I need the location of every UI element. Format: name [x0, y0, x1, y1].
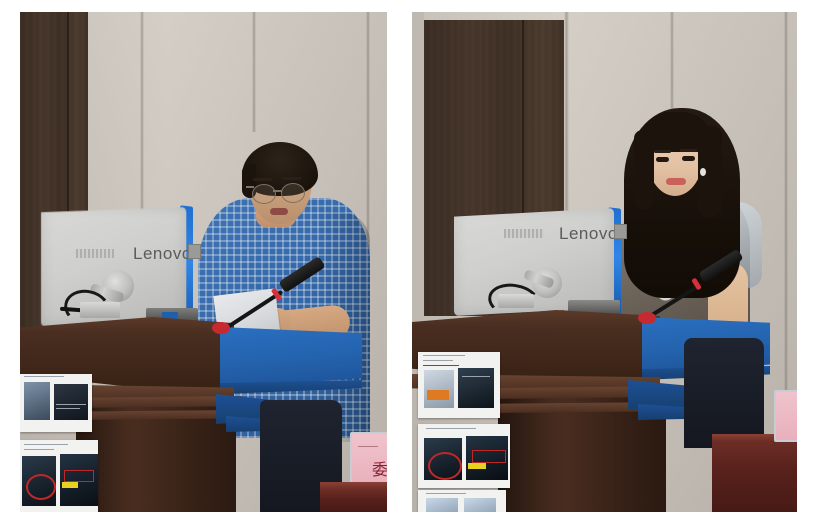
poster-text-line [24, 376, 64, 377]
wall-strip-right [412, 12, 424, 322]
photo-right: Lenovo [412, 12, 797, 512]
photo-left: Lenovo [20, 12, 387, 512]
poster-right-2 [418, 424, 510, 488]
monitor-lenovo-logo-right: Lenovo [559, 224, 618, 244]
desk-device-left [80, 302, 120, 318]
nameplate-line [358, 446, 378, 447]
poster-text-line [462, 376, 490, 377]
glasses-lens-left [252, 184, 276, 204]
poster-thumb [424, 370, 454, 408]
poster-thumb [458, 368, 494, 408]
monitor-vent-left [76, 249, 114, 258]
wall-seam-2 [252, 12, 256, 132]
screenshot-canvas: Lenovo [0, 0, 816, 527]
poster-annotation-circle [428, 452, 462, 480]
table-body-right-photo [712, 442, 797, 512]
poster-thumb [426, 498, 458, 512]
poster-annotation-box [64, 470, 94, 482]
poster-thumb [464, 498, 496, 512]
poster-text-line [56, 404, 86, 405]
poster-text-line [426, 428, 476, 429]
monitor-lenovo-mark-right [614, 224, 627, 239]
nameplate-text: 委 [372, 456, 387, 480]
monitor-vent-right [504, 229, 544, 238]
glasses-bridge [273, 190, 282, 192]
monitor-lenovo-mark-left [188, 244, 201, 259]
microphone-base-left [212, 322, 230, 334]
poster-highlight [468, 463, 486, 469]
poster-text-line [426, 493, 466, 494]
poster-annotation-box [472, 450, 506, 463]
desk-device-right-photo [498, 294, 534, 308]
presenter-trousers-right [684, 338, 764, 448]
poster-right-3 [418, 490, 506, 512]
monitor-lenovo-logo-left: Lenovo [133, 244, 192, 264]
presenter-eye-left [656, 157, 669, 162]
glasses-temple [246, 186, 254, 188]
poster-text-line [24, 449, 54, 450]
poster-highlight [62, 482, 78, 488]
poster-right-1 [418, 352, 500, 418]
poster-text-line [24, 444, 68, 445]
poster-thumb [54, 384, 88, 420]
table-body-left-photo [320, 490, 387, 512]
presenter-eyebrow-right [282, 177, 301, 180]
poster-text-line [423, 360, 453, 361]
poster-text-line [423, 365, 459, 366]
presenter-lips-right [666, 178, 686, 185]
presenter-eye-right [682, 156, 695, 161]
presenter-mouth-left [270, 208, 288, 215]
wall-seam-right-3 [784, 12, 788, 412]
nameplate-right-photo [774, 390, 797, 442]
poster-thumb [24, 382, 50, 420]
presenter-hair-sidelock-left [634, 130, 654, 210]
glasses-lens-right [281, 183, 305, 203]
poster-upper-left [20, 374, 92, 432]
poster-text-line [423, 355, 465, 356]
poster-text-line [56, 408, 80, 409]
poster-lower-left [20, 440, 98, 512]
nameplate-left-photo: 委 [350, 432, 387, 488]
presenter-eyebrow-right-right [680, 149, 697, 152]
presenter-eyebrow-left-right [654, 150, 671, 153]
earring-right [700, 168, 706, 176]
microphone-base-right [638, 312, 656, 324]
wall-seam-right-2 [670, 12, 674, 122]
poster-annotation-circle [26, 474, 56, 500]
presenter-eyebrow-left [253, 178, 272, 181]
poster-highlight [427, 390, 449, 400]
